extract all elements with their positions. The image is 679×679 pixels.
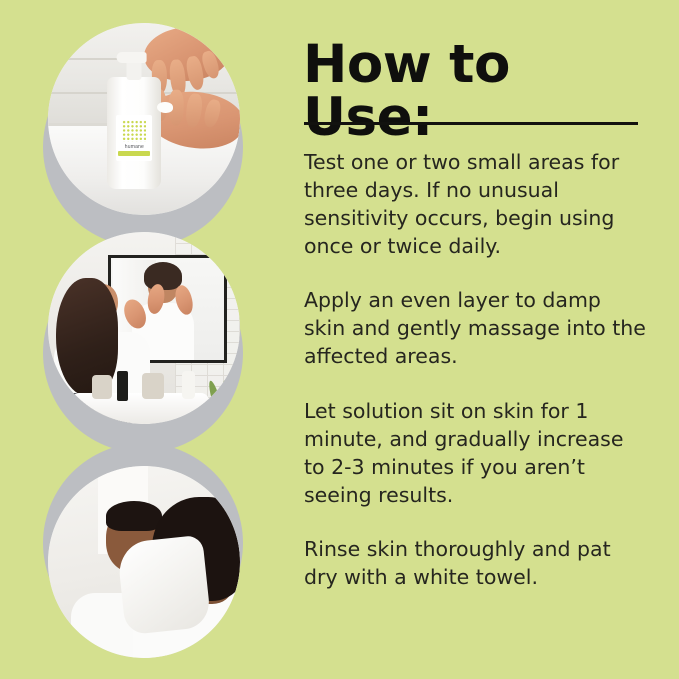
brand-dot-grid-logo: [122, 120, 146, 142]
white-towel: [116, 535, 211, 635]
instruction-list: Test one or two small areas for three da…: [304, 148, 646, 591]
instruction-step-1: Test one or two small areas for three da…: [304, 148, 646, 260]
instructions-column: How to Use: Test one or two small areas …: [303, 0, 649, 679]
instruction-step-3: Let solution sit on skin for 1 minute, a…: [304, 397, 646, 509]
bottle-label: humane: [116, 115, 152, 161]
page-title: How to Use:: [303, 38, 649, 144]
potted-plant: [212, 372, 238, 420]
photo-circle-patting-dry: [48, 466, 240, 658]
bottle-neck: [127, 60, 142, 80]
title-divider: [304, 122, 638, 125]
photo-circle-applying-at-mirror: [48, 232, 240, 424]
man-hair: [106, 501, 162, 531]
finger: [202, 98, 222, 129]
counter-jar: [142, 373, 164, 399]
instruction-step-4: Rinse skin thoroughly and pat dry with a…: [304, 535, 646, 591]
image-gallery-column: humane: [0, 0, 290, 679]
how-to-use-poster: humane: [0, 0, 679, 679]
product-bottle: humane: [107, 77, 161, 189]
bottle-pump-head: [117, 52, 147, 63]
photo-circle-dispensing-product: humane: [48, 23, 240, 215]
photo-scene-dispensing: humane: [48, 23, 240, 215]
counter-bottle: [182, 371, 195, 399]
counter-jar: [92, 375, 112, 399]
label-accent-band: [118, 151, 150, 156]
instruction-step-2: Apply an even layer to damp skin and gen…: [304, 286, 646, 370]
product-dollop: [157, 102, 173, 113]
brand-name: humane: [125, 144, 144, 150]
photo-scene-towel: [48, 466, 240, 658]
photo-scene-mirror: [48, 232, 240, 424]
sink-faucet: [117, 371, 128, 401]
finger: [185, 93, 204, 129]
